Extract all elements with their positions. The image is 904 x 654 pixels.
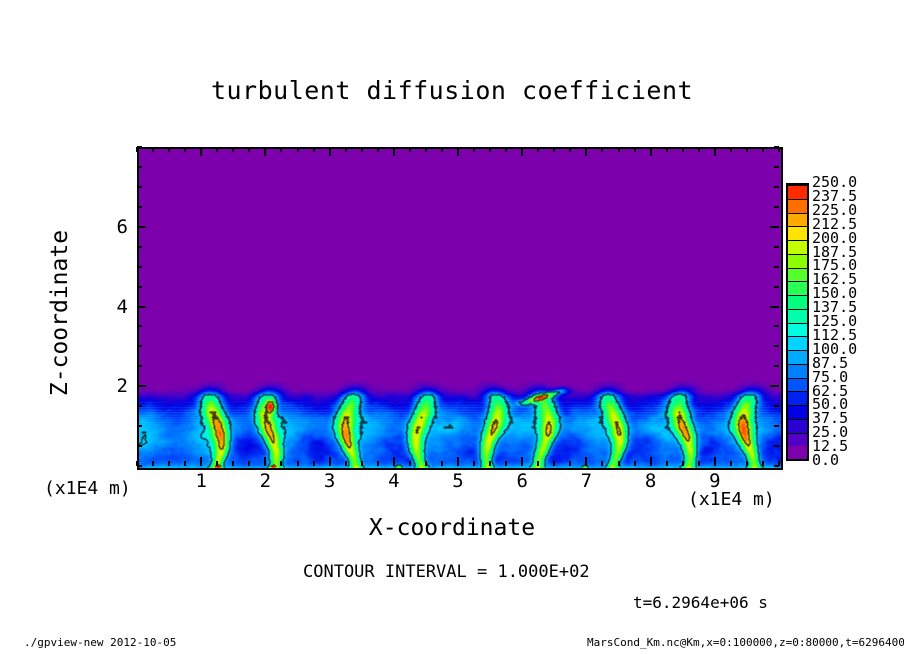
x-tick-top bbox=[297, 147, 299, 152]
x-tick bbox=[553, 461, 555, 466]
x-tick-top bbox=[345, 147, 347, 152]
x-tick bbox=[248, 461, 250, 466]
y-tick-right bbox=[770, 306, 779, 308]
x-tick-label: 6 bbox=[502, 470, 542, 492]
x-tick bbox=[184, 461, 186, 466]
x-tick-top bbox=[200, 147, 202, 156]
x-tick bbox=[489, 461, 491, 466]
y-tick bbox=[137, 445, 142, 447]
x-tick bbox=[441, 461, 443, 466]
x-tick bbox=[313, 461, 315, 466]
y-tick bbox=[137, 206, 142, 208]
x-tick-top bbox=[618, 147, 620, 152]
colorbar-band bbox=[788, 309, 807, 323]
x-tick-top bbox=[585, 147, 587, 156]
x-tick bbox=[345, 461, 347, 466]
colorbar-band bbox=[788, 336, 807, 350]
y-tick-right bbox=[774, 266, 779, 268]
x-tick bbox=[714, 457, 716, 466]
x-tick bbox=[232, 461, 234, 466]
x-tick-label: 8 bbox=[631, 470, 671, 492]
y-tick bbox=[137, 186, 142, 188]
x-tick-top bbox=[248, 147, 250, 152]
colorbar-band bbox=[788, 281, 807, 295]
x-tick bbox=[730, 461, 732, 466]
y-axis-title: Z-coordinate bbox=[47, 213, 73, 413]
colorbar-labels: 0.012.525.037.550.062.575.087.5100.0112.… bbox=[812, 183, 882, 461]
x-tick bbox=[682, 461, 684, 466]
colorbar-band bbox=[788, 268, 807, 282]
colorbar-tick-label: 237.5 bbox=[812, 189, 857, 204]
y-tick-right bbox=[774, 325, 779, 327]
colorbar-tick-label: 50.0 bbox=[812, 397, 848, 412]
x-tick bbox=[361, 461, 363, 466]
x-tick-top bbox=[682, 147, 684, 152]
contour-plot-area bbox=[137, 147, 783, 470]
x-tick bbox=[409, 461, 411, 466]
colorbar-band bbox=[788, 185, 807, 199]
x-tick-top bbox=[666, 147, 668, 152]
x-tick bbox=[168, 461, 170, 466]
y-tick-right bbox=[774, 286, 779, 288]
x-tick-top bbox=[473, 147, 475, 152]
x-tick bbox=[200, 457, 202, 466]
x-units-left-label: (x1E4 m) bbox=[44, 478, 131, 499]
y-tick-right bbox=[774, 246, 779, 248]
colorbar-band bbox=[788, 350, 807, 364]
colorbar-tick-label: 150.0 bbox=[812, 286, 857, 301]
x-tick-top bbox=[280, 147, 282, 152]
y-tick bbox=[137, 365, 142, 367]
y-tick bbox=[137, 405, 142, 407]
y-tick-right bbox=[774, 166, 779, 168]
x-tick-top bbox=[634, 147, 636, 152]
colorbar-tick-label: 212.5 bbox=[812, 217, 857, 232]
colorbar-tick-label: 75.0 bbox=[812, 370, 848, 385]
x-tick-top bbox=[216, 147, 218, 152]
x-tick bbox=[666, 461, 668, 466]
y-tick-right bbox=[774, 425, 779, 427]
y-tick bbox=[137, 325, 142, 327]
x-tick-label: 2 bbox=[245, 470, 285, 492]
x-units-right-label: (x1E4 m) bbox=[688, 489, 775, 510]
colorbar-tick-label: 87.5 bbox=[812, 356, 848, 371]
colorbar-tick-label: 12.5 bbox=[812, 439, 848, 454]
x-tick-top bbox=[762, 147, 764, 152]
colorbar-band bbox=[788, 295, 807, 309]
colorbar-band bbox=[788, 378, 807, 392]
x-tick-top bbox=[714, 147, 716, 156]
x-tick bbox=[746, 461, 748, 466]
x-tick-top bbox=[168, 147, 170, 152]
x-tick bbox=[216, 461, 218, 466]
x-tick bbox=[329, 457, 331, 466]
y-tick-right bbox=[774, 465, 779, 467]
y-tick bbox=[137, 306, 146, 308]
x-tick-top bbox=[409, 147, 411, 152]
y-tick-right bbox=[774, 345, 779, 347]
colorbar-tick-label: 200.0 bbox=[812, 231, 857, 246]
y-tick bbox=[137, 166, 142, 168]
x-tick bbox=[152, 461, 154, 466]
colorbar-tick-label: 100.0 bbox=[812, 342, 857, 357]
colorbar-band bbox=[788, 213, 807, 227]
colorbar-tick-label: 125.0 bbox=[812, 314, 857, 329]
x-tick-label: 5 bbox=[438, 470, 478, 492]
x-tick bbox=[264, 457, 266, 466]
x-tick-label: 7 bbox=[566, 470, 606, 492]
x-tick-top bbox=[377, 147, 379, 152]
y-tick-right bbox=[774, 146, 779, 148]
x-tick-top bbox=[601, 147, 603, 152]
x-tick-top bbox=[698, 147, 700, 152]
y-tick-right bbox=[774, 405, 779, 407]
x-tick-top bbox=[457, 147, 459, 156]
x-tick-top bbox=[425, 147, 427, 152]
x-axis-title: X-coordinate bbox=[0, 515, 904, 541]
colorbar-tick-label: 175.0 bbox=[812, 258, 857, 273]
colorbar-band bbox=[788, 199, 807, 213]
x-tick-label: 1 bbox=[181, 470, 221, 492]
colorbar-band bbox=[788, 405, 807, 419]
y-tick bbox=[137, 345, 142, 347]
y-tick-right bbox=[770, 385, 779, 387]
colorbar bbox=[786, 183, 809, 461]
contour-interval-label: CONTOUR INTERVAL = 1.000E+02 bbox=[303, 562, 590, 582]
colorbar-band bbox=[788, 433, 807, 447]
x-tick-top bbox=[264, 147, 266, 156]
colorbar-tick-label: 0.0 bbox=[812, 453, 839, 468]
x-tick-top bbox=[521, 147, 523, 156]
colorbar-tick-label: 112.5 bbox=[812, 328, 857, 343]
x-tick bbox=[537, 461, 539, 466]
y-tick bbox=[137, 385, 146, 387]
colorbar-tick-label: 187.5 bbox=[812, 245, 857, 260]
footer-command-label: ./gpview-new 2012-10-05 bbox=[24, 636, 176, 649]
colorbar-tick-label: 162.5 bbox=[812, 272, 857, 287]
x-tick bbox=[650, 457, 652, 466]
page-title: turbulent diffusion coefficient bbox=[0, 76, 904, 105]
colorbar-band bbox=[788, 391, 807, 405]
x-tick-top bbox=[650, 147, 652, 156]
y-tick bbox=[137, 425, 142, 427]
y-tick-label: 4 bbox=[98, 296, 128, 318]
timestamp-label: t=6.2964e+06 s bbox=[633, 593, 768, 612]
x-tick bbox=[585, 457, 587, 466]
turbulent-diffusion-field bbox=[139, 149, 781, 468]
colorbar-band bbox=[788, 240, 807, 254]
x-tick-label: 3 bbox=[310, 470, 350, 492]
y-tick bbox=[137, 465, 142, 467]
x-tick bbox=[601, 461, 603, 466]
x-tick bbox=[634, 461, 636, 466]
x-tick-top bbox=[393, 147, 395, 156]
x-tick bbox=[473, 461, 475, 466]
x-tick-top bbox=[730, 147, 732, 152]
x-tick-top bbox=[569, 147, 571, 152]
x-tick bbox=[297, 461, 299, 466]
x-tick-top bbox=[489, 147, 491, 152]
colorbar-tick-label: 62.5 bbox=[812, 384, 848, 399]
x-tick bbox=[569, 461, 571, 466]
y-tick-right bbox=[774, 445, 779, 447]
y-tick bbox=[137, 246, 142, 248]
colorbar-band bbox=[788, 364, 807, 378]
x-tick-top bbox=[152, 147, 154, 152]
y-tick-label: 2 bbox=[98, 375, 128, 397]
colorbar-tick-label: 225.0 bbox=[812, 203, 857, 218]
y-tick-right bbox=[770, 226, 779, 228]
x-tick-top bbox=[313, 147, 315, 152]
x-tick-top bbox=[441, 147, 443, 152]
colorbar-band bbox=[788, 254, 807, 268]
y-tick bbox=[137, 226, 146, 228]
x-tick-top bbox=[184, 147, 186, 152]
x-tick-label: 4 bbox=[374, 470, 414, 492]
y-tick-right bbox=[774, 186, 779, 188]
x-tick bbox=[521, 457, 523, 466]
x-tick-top bbox=[329, 147, 331, 156]
x-tick-top bbox=[232, 147, 234, 152]
colorbar-tick-label: 25.0 bbox=[812, 425, 848, 440]
y-tick bbox=[137, 146, 142, 148]
x-tick bbox=[280, 461, 282, 466]
colorbar-tick-label: 250.0 bbox=[812, 175, 857, 190]
x-tick-top bbox=[537, 147, 539, 152]
colorbar-band bbox=[788, 446, 807, 459]
colorbar-band bbox=[788, 419, 807, 433]
x-tick-top bbox=[553, 147, 555, 152]
colorbar-band bbox=[788, 226, 807, 240]
y-tick bbox=[137, 286, 142, 288]
x-tick-top bbox=[361, 147, 363, 152]
x-tick bbox=[425, 461, 427, 466]
x-tick bbox=[698, 461, 700, 466]
x-tick-top bbox=[505, 147, 507, 152]
colorbar-band bbox=[788, 323, 807, 337]
colorbar-tick-label: 37.5 bbox=[812, 411, 848, 426]
footer-source-label: MarsCond_Km.nc@Km,x=0:100000,z=0:80000,t… bbox=[587, 636, 904, 649]
x-tick bbox=[505, 461, 507, 466]
x-tick bbox=[377, 461, 379, 466]
y-tick-right bbox=[774, 365, 779, 367]
x-tick bbox=[457, 457, 459, 466]
x-tick-top bbox=[746, 147, 748, 152]
x-tick bbox=[393, 457, 395, 466]
y-tick-right bbox=[774, 206, 779, 208]
colorbar-tick-label: 137.5 bbox=[812, 300, 857, 315]
y-tick-label: 6 bbox=[98, 216, 128, 238]
x-tick bbox=[762, 461, 764, 466]
x-tick bbox=[618, 461, 620, 466]
y-tick bbox=[137, 266, 142, 268]
